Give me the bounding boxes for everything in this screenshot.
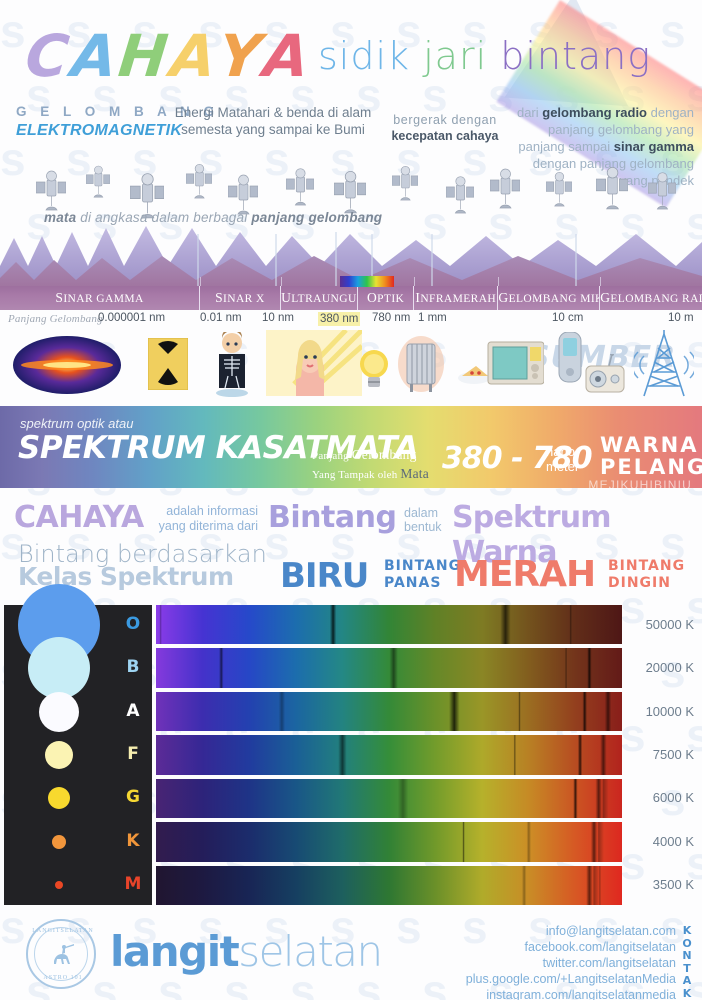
contact-line[interactable]: twitter.com/langitselatan	[346, 955, 676, 971]
stellar-spectra-chart: OBAFGKM 50000 K20000 K10000 K7500 K6000 …	[0, 605, 702, 905]
contact-list[interactable]: info@langitselatan.comfacebook.com/langi…	[346, 923, 676, 1000]
temperature-k: 4000 K	[628, 834, 694, 849]
statement-bintang-panas: BINTANG PANAS	[384, 558, 461, 592]
statement-biru: BIRU	[280, 556, 368, 596]
infographic-page: ssssssssssssssssssssssssssssssssssssssss…	[0, 0, 702, 1000]
em-band-sinar-gamma: SINAR GAMMA	[0, 286, 200, 310]
spectrum-strip-o	[156, 605, 622, 644]
contact-line[interactable]: plus.google.com/+LangitselatanMedia	[346, 971, 676, 987]
contact-line[interactable]: instagram.com/langitselatanmedia	[346, 987, 676, 1000]
satellite-icon	[546, 168, 572, 210]
wavelength-value: 1 mm	[418, 312, 447, 324]
satellite-icon	[648, 168, 676, 213]
statement-bintang-dingin: BINTANG DINGIN	[608, 558, 685, 592]
em-band-label: S	[215, 290, 223, 305]
spectral-class-f: F	[114, 744, 152, 764]
statement-dalam-bentuk: dalam bentuk	[404, 506, 450, 534]
pg-line1-b: Gelombang	[352, 447, 417, 462]
spectral-class-a: A	[114, 701, 152, 721]
star-size-column	[4, 605, 114, 905]
spectral-class-m: M	[114, 874, 152, 894]
spectrum-strip-b	[156, 648, 622, 687]
visible-spectrum-band: spektrum optik atau SPEKTRUM KASATMATA P…	[0, 406, 702, 488]
wavelength-row-label: Panjang Gelombang	[8, 313, 103, 325]
sunbathing-woman-icon	[266, 330, 362, 396]
temperature-g: 6000 K	[628, 790, 694, 805]
page-title: CAHAYA	[26, 22, 312, 90]
wavelength-value: 10 nm	[262, 312, 294, 324]
em-band-gelombang-mikro: GELOMBANG MIKRO	[498, 286, 600, 310]
kontak-letter: A	[680, 975, 694, 988]
warna-line1: WARNA	[600, 433, 698, 457]
radio-tower-icon	[634, 330, 694, 398]
wavelength-value: 10 cm	[552, 312, 583, 324]
kontak-vertical-label: KONTAK	[680, 925, 694, 1000]
em-band-sinar-x: SINAR X	[200, 286, 281, 310]
intro-d-bold-radio: gelombang radio	[542, 105, 647, 120]
spectrum-strips-column	[156, 605, 622, 905]
footer: LANGITSELATAN ASTRO 101 langitselatan in…	[0, 905, 702, 1000]
em-band-label: G	[600, 290, 610, 305]
satellite-caption: mata di angkasa dalam berbagai panjang g…	[44, 210, 382, 225]
star-m	[55, 881, 63, 889]
kontak-letter: K	[680, 988, 694, 1000]
title-letter: A	[68, 22, 123, 90]
intro-d-bold-gamma: sinar gamma	[614, 139, 694, 154]
title-letter: Y	[215, 22, 267, 90]
optical-rainbow-swatch	[340, 276, 394, 287]
spectral-class-k: K	[114, 831, 152, 851]
star-a	[39, 692, 79, 732]
warna-pelangi-label: WARNA PELANGI	[600, 434, 692, 478]
temperature-o: 50000 K	[628, 617, 694, 632]
dalam-line1: dalam	[404, 506, 438, 520]
spectral-class-g: G	[114, 787, 152, 807]
pg-line2-b: Mata	[400, 466, 429, 481]
star-g	[48, 787, 70, 809]
warna-line2: PELANGI	[600, 455, 702, 479]
satellite-icon	[186, 160, 212, 202]
kontak-letter: N	[680, 950, 694, 963]
wavelength-value: 0.01 nm	[200, 312, 242, 324]
radioactive-sign-icon	[148, 338, 188, 390]
visible-band-small-title: spektrum optik atau	[20, 416, 133, 431]
gamma-ray-sky-map-icon	[12, 334, 122, 396]
temperature-m: 3500 K	[628, 877, 694, 892]
satellite-icon	[596, 162, 628, 213]
em-band-label: G	[498, 290, 508, 305]
adalah-line2: yang diterima dari	[159, 519, 258, 533]
visible-band-wavelength-label: Panjang Gelombang Yang Tampak oleh Mata	[312, 446, 429, 484]
title-letter: A	[167, 22, 222, 90]
radio-receiver-icon	[582, 354, 630, 394]
mobile-phone-icon	[556, 332, 584, 384]
radiator-heater-icon	[398, 334, 444, 394]
visible-range-unit: nano meter	[546, 444, 579, 474]
page-subtitle: sidik jari bintang	[318, 34, 651, 78]
spectral-class-o: O	[114, 614, 152, 634]
star-f	[45, 741, 73, 769]
label-elektromagnetik: ELEKTROMAGNETIK	[16, 122, 182, 140]
star-k	[52, 835, 66, 849]
seal-bottom-text: ASTRO 101	[28, 975, 98, 981]
statement-block: CAHAYA adalah informasi yang diterima da…	[0, 494, 702, 590]
caption-bold-panjang-gelombang: panjang gelombang	[251, 210, 382, 225]
xray-person-icon	[210, 332, 254, 398]
intro-kecepatan-line2: kecepatan cahaya	[391, 129, 498, 143]
seal-top-text: LANGITSELATAN	[28, 928, 98, 934]
microwave-oven-icon	[458, 340, 544, 388]
dingin-line1: BINTANG	[608, 558, 685, 574]
kontak-letter: K	[680, 925, 694, 938]
wavelength-row: Panjang Gelombang 0.000001 nm0.01 nm10 n…	[0, 311, 702, 331]
satellite-icon	[392, 162, 418, 204]
subtitle-word-bintang: bintang	[500, 34, 651, 78]
statement-cahaya: CAHAYA	[14, 500, 144, 535]
wavelength-value: 780 nm	[372, 312, 410, 324]
dingin-line2: DINGIN	[608, 575, 671, 591]
temperature-a: 10000 K	[628, 704, 694, 719]
em-band-label: I	[415, 290, 420, 305]
subtitle-word-jari: jari	[423, 34, 500, 78]
light-bulb-icon	[358, 346, 390, 392]
spectral-class-b: B	[114, 657, 152, 677]
panas-line1: BINTANG	[384, 558, 461, 574]
spectrum-strip-g	[156, 779, 622, 818]
star-b	[28, 637, 90, 699]
mejikuhibiniu-mnemonic: MEJIKUHIBINIU	[578, 478, 692, 492]
centaur-icon	[50, 943, 76, 969]
em-spectrum-bar: SINAR GAMMASINAR XULTRAUNGUOPTIKINFRAMER…	[0, 286, 702, 310]
adalah-line1: adalah informasi	[166, 504, 258, 518]
intro-column-kecepatan: bergerak dengan kecepatan cahaya	[386, 112, 504, 144]
em-band-optik: OPTIK	[358, 286, 414, 310]
statement-bintang: Bintang	[268, 500, 396, 535]
caption-mid: di angkasa dalam berbagai	[76, 210, 251, 225]
intro-column-energi: Energi Matahari & benda di alam semesta …	[168, 104, 378, 138]
intro-d-pre: dari	[517, 105, 542, 120]
statement-merah: MERAH	[454, 554, 595, 595]
header: CAHAYA sidik jari bintang	[0, 0, 702, 100]
spectrum-strip-k	[156, 822, 622, 861]
pg-line1-a: Panjang	[312, 450, 352, 462]
title-letter: A	[260, 22, 315, 90]
subtitle-word-sidik: sidik	[318, 34, 423, 78]
contact-line[interactable]: facebook.com/langitselatan	[346, 939, 676, 955]
satellite-icon	[36, 166, 66, 214]
em-band-ultraungu: ULTRAUNGU	[281, 286, 358, 310]
satellite-icon	[286, 164, 314, 209]
contact-line[interactable]: info@langitselatan.com	[346, 923, 676, 939]
langitselatan-seal-logo: LANGITSELATAN ASTRO 101	[26, 919, 96, 989]
em-band-label: S	[55, 290, 63, 305]
em-band-inframerah: INFRAMERAH	[414, 286, 498, 310]
caption-bold-mata: mata	[44, 210, 76, 225]
spectrum-strip-m	[156, 866, 622, 905]
em-band-label: U	[281, 290, 291, 305]
temperature-f: 7500 K	[628, 747, 694, 762]
temperature-column: 50000 K20000 K10000 K7500 K6000 K4000 K3…	[628, 605, 702, 905]
spectrum-strip-a	[156, 692, 622, 731]
langitselatan-wordmark: langitselatan	[110, 927, 382, 976]
unit-line2: meter	[546, 459, 579, 474]
statement-adalah-informasi: adalah informasi yang diterima dari	[152, 504, 258, 534]
wavelength-value: 380 nm	[318, 312, 360, 326]
title-letter: C	[22, 22, 75, 90]
wordmark-langit: langit	[110, 927, 238, 976]
satellite-icon	[490, 164, 520, 212]
temperature-b: 20000 K	[628, 660, 694, 675]
spectrum-strip-f	[156, 735, 622, 774]
pg-line2-a: Yang Tampak oleh	[312, 469, 400, 481]
em-band-gelombang-radio: GELOMBANG RADIO	[600, 286, 702, 310]
wavelength-value: 10 m	[668, 312, 694, 324]
title-letter: H	[116, 22, 175, 90]
intro-kecepatan-line1: bergerak dengan	[393, 113, 497, 127]
em-band-label: O	[367, 290, 377, 305]
panas-line2: PANAS	[384, 575, 441, 591]
wavelength-value: 0.000001 nm	[98, 312, 165, 324]
dalam-line2: bentuk	[404, 520, 442, 534]
source-icons-row	[0, 330, 702, 402]
unit-line1: nano	[546, 444, 575, 459]
spectral-class-column: OBAFGKM	[114, 605, 152, 905]
satellite-icon	[86, 162, 110, 200]
satellite-icon	[446, 172, 474, 217]
